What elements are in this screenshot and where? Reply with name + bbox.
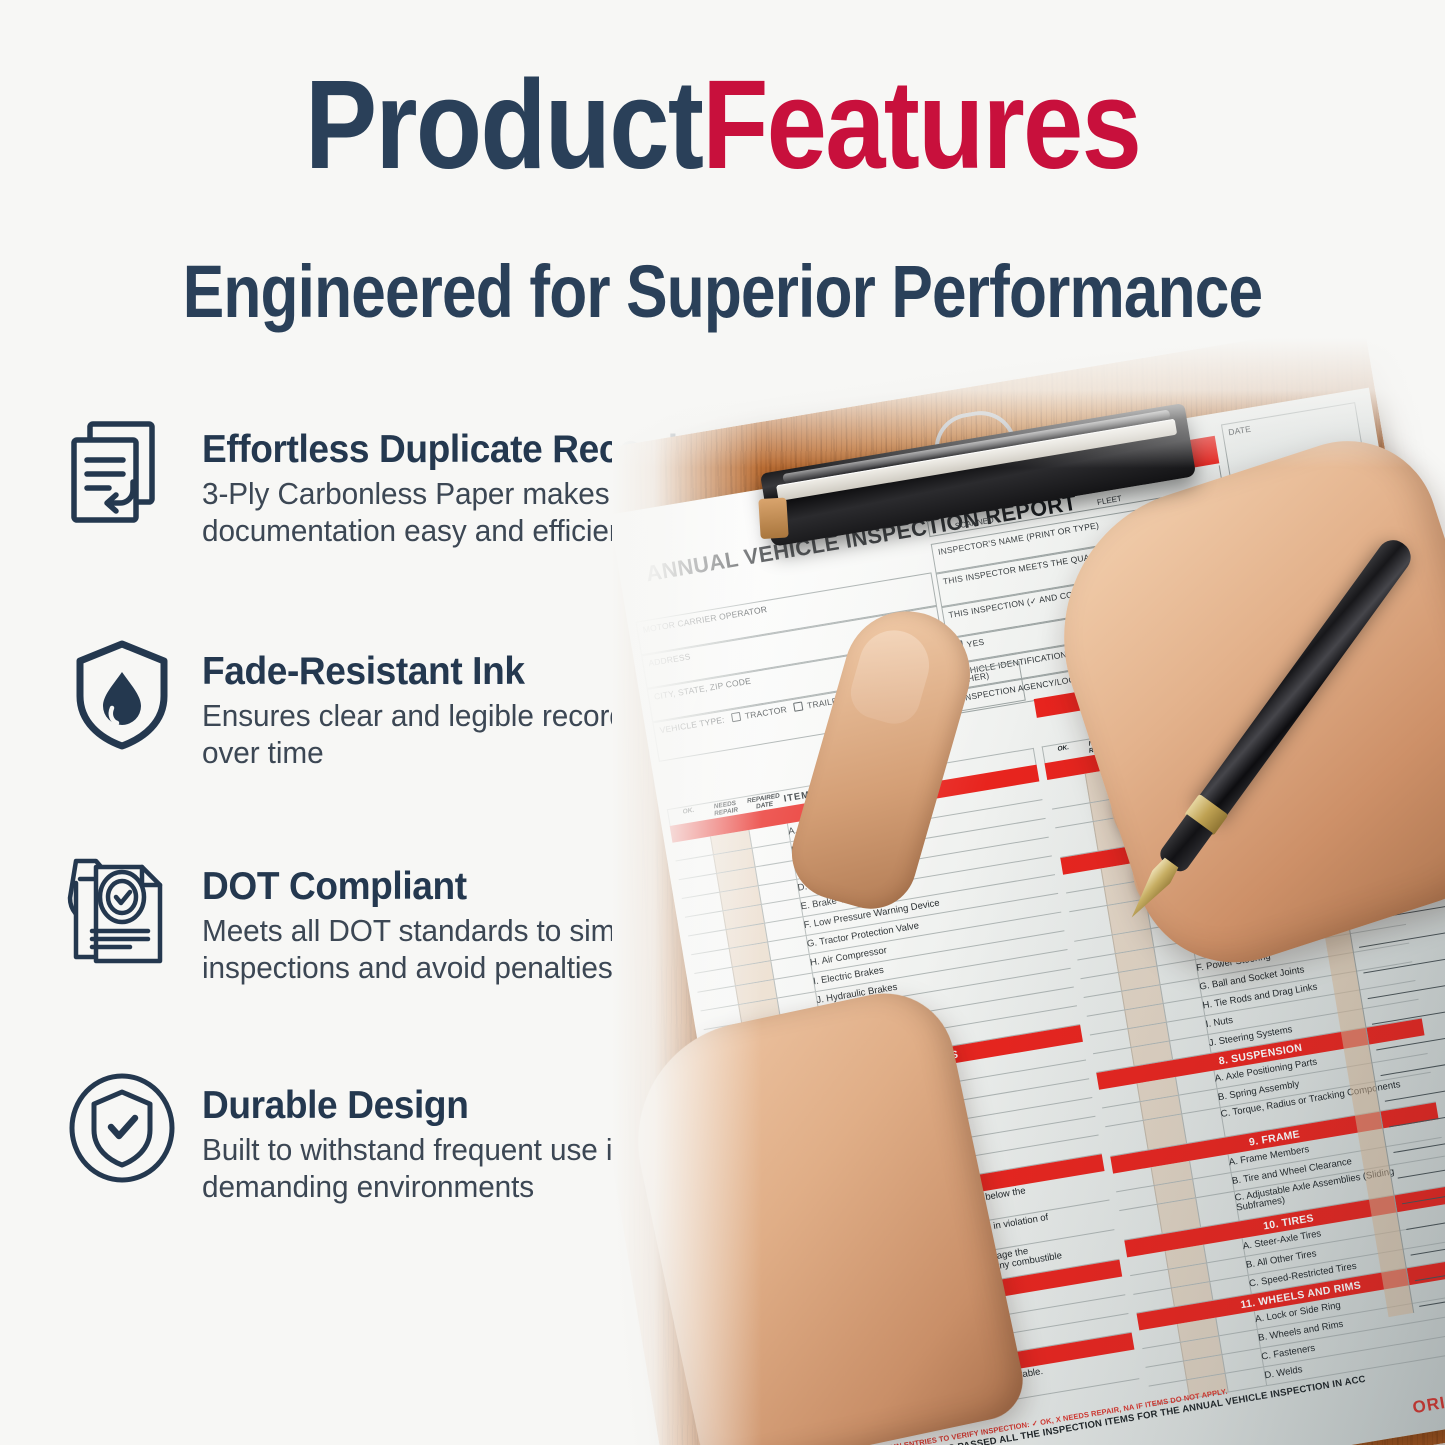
feature-item-fade-resistant-ink: Fade-Resistant Ink Ensures clear and leg… bbox=[58, 630, 659, 771]
ruled-line bbox=[1376, 1034, 1445, 1051]
feature-desc-line1: Ensures clear and legible records bbox=[202, 697, 641, 734]
ruled-line bbox=[1402, 1187, 1445, 1204]
form-item-label: I. Nuts bbox=[1205, 1015, 1234, 1030]
page-title: ProductFeatures bbox=[101, 62, 1344, 188]
feature-text-block: Durable Design Built to withstand freque… bbox=[202, 1064, 647, 1205]
ruled-line bbox=[1368, 982, 1445, 999]
page-subtitle: Engineered for Superior Performance bbox=[116, 252, 1330, 332]
ruled-line bbox=[1385, 1085, 1445, 1102]
ruled-line bbox=[1411, 1239, 1445, 1256]
ruled-line bbox=[1381, 1059, 1445, 1076]
ruled-line bbox=[1415, 1264, 1445, 1281]
feature-desc-line2: inspections and avoid penalties bbox=[202, 949, 668, 986]
feature-title: Durable Design bbox=[202, 1084, 624, 1128]
feature-desc-line2: demanding environments bbox=[202, 1168, 629, 1205]
checkbox-tractor[interactable] bbox=[731, 712, 741, 722]
feature-desc-line1: Built to withstand frequent use in bbox=[202, 1131, 629, 1168]
ruled-line bbox=[1419, 1290, 1445, 1307]
product-photo: BUCK U. ANNUAL VEHICLE INSPECTION REPORT… bbox=[612, 338, 1445, 1445]
feature-title: Fade-Resistant Ink bbox=[202, 650, 636, 694]
certified-document-icon bbox=[58, 845, 186, 973]
feature-title: DOT Compliant bbox=[202, 865, 663, 909]
ruled-line bbox=[1389, 1111, 1445, 1128]
infographic-canvas: ProductFeatures Engineered for Superior … bbox=[0, 0, 1445, 1445]
ruled-line bbox=[1359, 931, 1445, 948]
duplicate-documents-icon bbox=[58, 408, 186, 536]
ruled-line bbox=[1372, 1008, 1445, 1025]
page-title-part2: Features bbox=[702, 54, 1140, 195]
ruled-line bbox=[1393, 1136, 1445, 1153]
ruled-line bbox=[1398, 1162, 1445, 1179]
feature-item-durable-design: Durable Design Built to withstand freque… bbox=[58, 1064, 647, 1205]
feature-item-dot-compliant: DOT Compliant Meets all DOT standards to… bbox=[58, 845, 687, 986]
feature-desc-line2: over time bbox=[202, 734, 641, 771]
clip-pivot bbox=[758, 497, 788, 539]
feature-description: Ensures clear and legible records over t… bbox=[202, 697, 641, 771]
checkbox-trailer[interactable] bbox=[793, 701, 803, 711]
shield-droplet-icon bbox=[58, 630, 186, 758]
ruled-line bbox=[1406, 1213, 1445, 1230]
feature-description: Meets all DOT standards to simplify insp… bbox=[202, 912, 668, 986]
page-title-part1: Product bbox=[305, 54, 702, 195]
feature-text-block: Fade-Resistant Ink Ensures clear and leg… bbox=[202, 630, 659, 771]
feature-description: Built to withstand frequent use in deman… bbox=[202, 1131, 629, 1205]
shield-check-circle-icon bbox=[58, 1064, 186, 1192]
feature-desc-line1: Meets all DOT standards to simplify bbox=[202, 912, 668, 949]
ruled-line bbox=[1363, 957, 1445, 974]
